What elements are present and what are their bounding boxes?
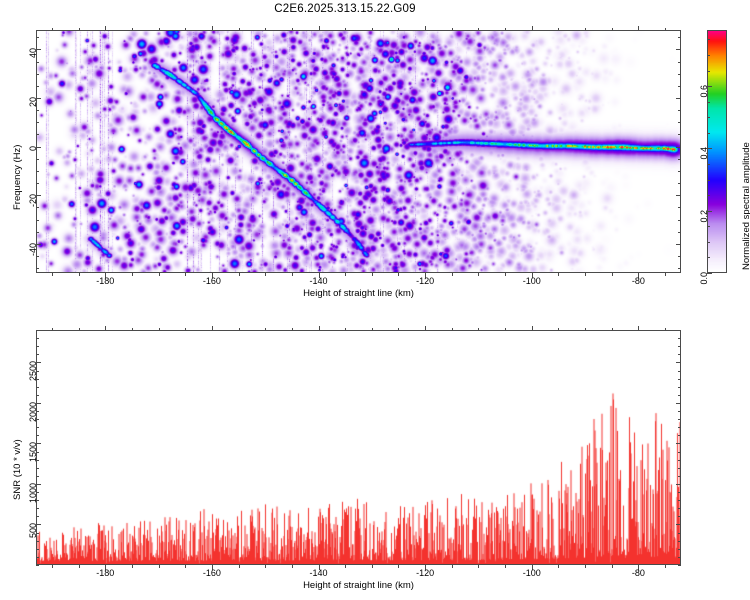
axis-tick-x-top bbox=[132, 328, 133, 331]
axis-tick-x-top bbox=[132, 28, 133, 31]
axis-tick-y-right bbox=[678, 565, 681, 566]
axis-tick-y-right bbox=[678, 468, 681, 469]
axis-tick-x bbox=[292, 565, 293, 568]
axis-tick-y-right bbox=[678, 492, 681, 493]
axis-tick-x-top bbox=[425, 326, 426, 331]
axis-tick-x bbox=[265, 273, 266, 276]
axis-tick-y-right bbox=[678, 171, 681, 172]
axis-tick-y-right bbox=[678, 452, 681, 453]
axis-tick-x-top bbox=[239, 28, 240, 31]
axis-tick-label-x: -140 bbox=[295, 276, 343, 286]
axis-tick-x-top bbox=[212, 326, 213, 331]
axis-tick-y-right bbox=[678, 183, 681, 184]
axis-tick-y-right bbox=[678, 460, 681, 461]
axis-tick-x-top bbox=[185, 328, 186, 331]
axis-tick-y bbox=[36, 37, 39, 38]
colorbar-tick-label: 0.2 bbox=[699, 210, 709, 270]
axis-tick-label-y: 2500 bbox=[28, 361, 38, 421]
colorbar-tick-label: 0.0 bbox=[699, 272, 709, 332]
axis-tick-x bbox=[345, 565, 346, 568]
axis-tick-y bbox=[36, 338, 39, 339]
axis-tick-y-right bbox=[678, 533, 681, 534]
axis-tick-x-top bbox=[105, 26, 106, 31]
axis-tick-x bbox=[239, 273, 240, 276]
axis-tick-y-right bbox=[676, 49, 681, 50]
axis-tick-y-right bbox=[678, 256, 681, 257]
axis-tick-x-top bbox=[345, 28, 346, 31]
axis-tick-y-right bbox=[676, 98, 681, 99]
axis-tick-x-top bbox=[665, 328, 666, 331]
axis-tick-y-right bbox=[676, 403, 681, 404]
axis-tick-x bbox=[478, 273, 479, 276]
colorbar-gradient bbox=[708, 31, 726, 272]
axis-tick-label-x: -160 bbox=[188, 276, 236, 286]
axis-tick-x-top bbox=[532, 26, 533, 31]
axis-tick-label-x: -120 bbox=[401, 276, 449, 286]
axis-tick-y-right bbox=[676, 362, 681, 363]
axis-tick-y-right bbox=[678, 122, 681, 123]
colorbar-tick bbox=[707, 71, 710, 72]
axis-tick-x-top bbox=[585, 28, 586, 31]
axis-tick-x bbox=[558, 273, 559, 276]
axis-tick-label-x: -180 bbox=[81, 276, 129, 286]
axis-tick-x-top bbox=[319, 326, 320, 331]
axis-tick-x bbox=[79, 273, 80, 276]
colorbar-label: Normalized spectral amplitude bbox=[741, 142, 750, 270]
axis-tick-y-right bbox=[678, 379, 681, 380]
snr-trace bbox=[37, 331, 680, 564]
axis-tick-y-right bbox=[676, 524, 681, 525]
axis-tick-y-right bbox=[678, 86, 681, 87]
axis-tick-x-top bbox=[478, 328, 479, 331]
axis-tick-x-top bbox=[372, 328, 373, 331]
colorbar-tick bbox=[707, 39, 710, 40]
axis-tick-x bbox=[478, 565, 479, 568]
axis-tick-x-top bbox=[478, 28, 479, 31]
axis-tick-y-right bbox=[678, 411, 681, 412]
axis-tick-x-top bbox=[79, 328, 80, 331]
axis-tick-y-right bbox=[678, 508, 681, 509]
axis-tick-x-top bbox=[532, 326, 533, 331]
axis-tick-y-right bbox=[676, 484, 681, 485]
axis-tick-x-top bbox=[319, 26, 320, 31]
spectrogram-x-axis-label: Height of straight line (km) bbox=[0, 288, 717, 299]
spectrogram-y-axis-label: Frequency (Hz) bbox=[12, 145, 23, 210]
axis-tick-x-top bbox=[159, 328, 160, 331]
figure-root: C2E6.2025.313.15.22.G09 -180-160-140-120… bbox=[0, 0, 750, 600]
axis-tick-y-right bbox=[678, 387, 681, 388]
axis-tick-y-right bbox=[678, 557, 681, 558]
axis-tick-x-top bbox=[638, 26, 639, 31]
axis-tick-label-x: -180 bbox=[81, 568, 129, 578]
axis-tick-x bbox=[159, 273, 160, 276]
axis-tick-y-right bbox=[678, 435, 681, 436]
axis-tick-y-right bbox=[676, 443, 681, 444]
axis-tick-x-top bbox=[398, 328, 399, 331]
axis-tick-x-top bbox=[212, 26, 213, 31]
axis-tick-x bbox=[372, 273, 373, 276]
axis-tick-y bbox=[36, 354, 39, 355]
axis-tick-x bbox=[558, 565, 559, 568]
axis-tick-x bbox=[452, 565, 453, 568]
axis-tick-y-right bbox=[678, 207, 681, 208]
axis-tick-label-x: -80 bbox=[614, 568, 662, 578]
axis-tick-y bbox=[36, 330, 39, 331]
colorbar-tick bbox=[707, 55, 710, 56]
axis-tick-y-right bbox=[678, 37, 681, 38]
axis-tick-y-right bbox=[678, 427, 681, 428]
axis-tick-y-right bbox=[678, 395, 681, 396]
axis-tick-x bbox=[132, 273, 133, 276]
axis-tick-x-top bbox=[265, 28, 266, 31]
axis-tick-y-right bbox=[678, 159, 681, 160]
figure-title: C2E6.2025.313.15.22.G09 bbox=[0, 3, 690, 15]
axis-tick-y-right bbox=[678, 346, 681, 347]
axis-tick-x-top bbox=[505, 328, 506, 331]
snr-panel bbox=[36, 330, 681, 565]
axis-tick-y bbox=[36, 346, 39, 347]
axis-tick-y-right bbox=[678, 232, 681, 233]
axis-tick-y-right bbox=[678, 371, 681, 372]
axis-tick-y-right bbox=[678, 330, 681, 331]
axis-tick-x bbox=[79, 565, 80, 568]
axis-tick-x-top bbox=[52, 28, 53, 31]
axis-tick-x-top bbox=[372, 28, 373, 31]
axis-tick-x bbox=[612, 565, 613, 568]
axis-tick-x-top bbox=[345, 328, 346, 331]
axis-tick-x-top bbox=[292, 28, 293, 31]
axis-tick-y-right bbox=[678, 541, 681, 542]
axis-tick-x-top bbox=[398, 28, 399, 31]
axis-tick-x bbox=[185, 565, 186, 568]
axis-tick-x bbox=[612, 273, 613, 276]
axis-tick-y-right bbox=[678, 74, 681, 75]
axis-tick-x-top bbox=[52, 328, 53, 331]
axis-tick-x-top bbox=[185, 28, 186, 31]
axis-tick-y-right bbox=[678, 476, 681, 477]
axis-tick-x bbox=[52, 273, 53, 276]
axis-tick-y-right bbox=[676, 244, 681, 245]
axis-tick-x bbox=[398, 273, 399, 276]
axis-tick-x-top bbox=[425, 26, 426, 31]
axis-tick-y-right bbox=[676, 195, 681, 196]
axis-tick-x bbox=[665, 273, 666, 276]
axis-tick-x-top bbox=[159, 28, 160, 31]
axis-tick-x-top bbox=[452, 28, 453, 31]
axis-tick-y-right bbox=[678, 516, 681, 517]
axis-tick-x bbox=[292, 273, 293, 276]
axis-tick-x bbox=[505, 565, 506, 568]
axis-tick-y-right bbox=[678, 110, 681, 111]
axis-tick-x bbox=[398, 565, 399, 568]
axis-tick-x bbox=[665, 565, 666, 568]
axis-tick-x bbox=[585, 565, 586, 568]
axis-tick-x-top bbox=[452, 328, 453, 331]
axis-tick-x-top bbox=[292, 328, 293, 331]
axis-tick-x bbox=[345, 273, 346, 276]
axis-tick-x-top bbox=[665, 28, 666, 31]
axis-tick-y-right bbox=[678, 134, 681, 135]
snr-y-axis-label: SNR (10 * v/v) bbox=[12, 439, 23, 500]
axis-tick-y-right bbox=[678, 220, 681, 221]
axis-tick-y-right bbox=[678, 268, 681, 269]
axis-tick-x bbox=[452, 273, 453, 276]
axis-tick-y-right bbox=[676, 147, 681, 148]
axis-tick-x bbox=[52, 565, 53, 568]
axis-tick-label-x: -140 bbox=[295, 568, 343, 578]
axis-tick-label-x: -120 bbox=[401, 568, 449, 578]
axis-tick-label-x: -160 bbox=[188, 568, 236, 578]
axis-tick-x-top bbox=[638, 326, 639, 331]
axis-tick-x-top bbox=[505, 28, 506, 31]
axis-tick-x-top bbox=[612, 28, 613, 31]
axis-tick-x-top bbox=[105, 326, 106, 331]
axis-tick-x-top bbox=[558, 328, 559, 331]
axis-tick-x bbox=[132, 565, 133, 568]
axis-tick-label-x: -100 bbox=[508, 276, 556, 286]
axis-tick-x-top bbox=[612, 328, 613, 331]
spectrogram-image bbox=[37, 31, 680, 272]
axis-tick-x-top bbox=[585, 328, 586, 331]
axis-tick-x bbox=[239, 565, 240, 568]
axis-tick-x-top bbox=[558, 28, 559, 31]
axis-tick-x bbox=[585, 273, 586, 276]
colorbar-tick-label: 0.4 bbox=[699, 147, 709, 207]
axis-tick-y-right bbox=[678, 338, 681, 339]
colorbar bbox=[707, 30, 727, 273]
axis-tick-y-right bbox=[678, 549, 681, 550]
axis-tick-y-right bbox=[678, 419, 681, 420]
spectrogram-panel bbox=[36, 30, 681, 273]
axis-tick-x-top bbox=[265, 328, 266, 331]
axis-tick-label-x: -100 bbox=[508, 568, 556, 578]
axis-tick-x bbox=[505, 273, 506, 276]
axis-tick-x bbox=[265, 565, 266, 568]
snr-x-axis-label: Height of straight line (km) bbox=[0, 580, 717, 591]
colorbar-tick-label: 0.6 bbox=[699, 85, 709, 145]
axis-tick-x-top bbox=[239, 328, 240, 331]
axis-tick-x bbox=[372, 565, 373, 568]
axis-tick-y-right bbox=[678, 354, 681, 355]
axis-tick-y-right bbox=[678, 62, 681, 63]
axis-tick-y-right bbox=[678, 500, 681, 501]
axis-tick-x bbox=[159, 565, 160, 568]
axis-tick-x bbox=[185, 273, 186, 276]
axis-tick-label-x: -80 bbox=[614, 276, 662, 286]
axis-tick-x-top bbox=[79, 28, 80, 31]
